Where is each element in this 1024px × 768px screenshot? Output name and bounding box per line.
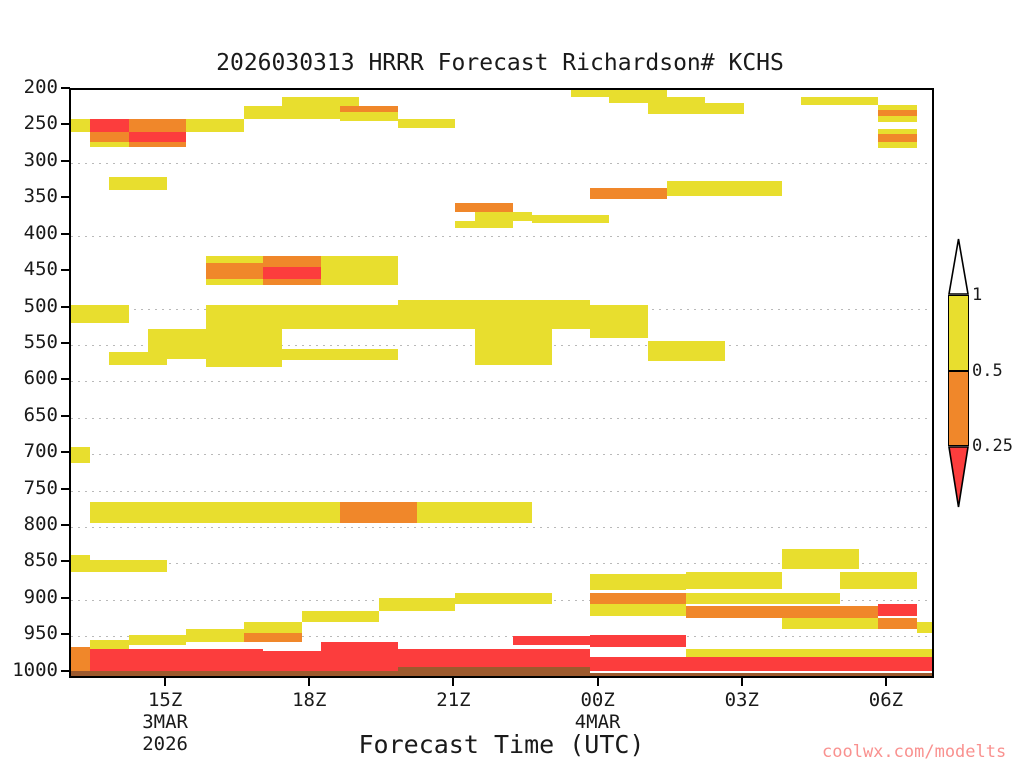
heatmap-cell (840, 572, 917, 589)
y-tick-label: 650 (24, 406, 58, 425)
heatmap-cell (206, 338, 283, 367)
heatmap-cell (590, 188, 667, 199)
y-tick-mark (61, 87, 70, 89)
y-tick-mark (61, 233, 70, 235)
heatmap-cell (129, 635, 187, 645)
heatmap-cell (71, 657, 90, 672)
y-tick-mark (61, 560, 70, 562)
heatmap-cell (206, 305, 283, 338)
y-tick-mark (61, 196, 70, 198)
x-tick-mark (597, 678, 599, 686)
colorbar-tick-label: 0.25 (972, 436, 1013, 456)
ground-band (398, 667, 590, 678)
x-tick-mark (164, 678, 166, 686)
x-tick-label: 21Z (393, 690, 513, 712)
heatmap-cell (90, 142, 128, 146)
heatmap-cell (263, 256, 321, 267)
heatmap-canvas (71, 90, 932, 676)
heatmap-cell (917, 622, 934, 633)
heatmap-cell (878, 116, 916, 122)
y-tick-label: 400 (24, 224, 58, 243)
y-tick-mark (61, 524, 70, 526)
heatmap-cell (206, 256, 264, 263)
heatmap-cell (686, 572, 782, 589)
y-tick-mark (61, 451, 70, 453)
y-tick-mark (61, 306, 70, 308)
heatmap-cell (590, 593, 686, 604)
y-tick-mark (61, 269, 70, 271)
heatmap-cell (206, 279, 264, 285)
ground-band (590, 673, 934, 678)
y-tick-label: 250 (24, 114, 58, 133)
heatmap-cell (590, 657, 934, 672)
x-tick-mark (452, 678, 454, 686)
y-tick-label: 500 (24, 297, 58, 316)
heatmap-cell (282, 349, 397, 360)
heatmap-cell (263, 645, 321, 651)
y-tick-label: 600 (24, 369, 58, 388)
y-tick-label: 800 (24, 515, 58, 534)
heatmap-cell (263, 279, 321, 285)
heatmap-cell (686, 649, 934, 656)
heatmap-cell (455, 203, 513, 212)
y-tick-label: 450 (24, 260, 58, 279)
heatmap-cell (801, 97, 878, 104)
gridline (71, 527, 932, 528)
heatmap-cell (379, 598, 456, 610)
y-tick-mark (61, 415, 70, 417)
heatmap-cell (109, 352, 167, 365)
heatmap-cell (667, 181, 782, 196)
heatmap-cell (475, 329, 552, 365)
y-tick-label: 350 (24, 187, 58, 206)
heatmap-cell (71, 447, 90, 463)
heatmap-cell (282, 97, 359, 106)
y-tick-label: 300 (24, 151, 58, 170)
chart-root: 2026030313 HRRR Forecast Richardson# KCH… (0, 0, 1024, 768)
heatmap-cell (590, 635, 686, 647)
y-tick-label: 1000 (12, 661, 58, 680)
heatmap-cell (821, 606, 879, 618)
heatmap-cell (782, 593, 840, 604)
plot-area (69, 88, 934, 678)
colorbar-tick-label: 0.5 (972, 361, 1003, 381)
heatmap-cell (878, 618, 916, 629)
heatmap-cell (398, 300, 590, 329)
heatmap-cell (648, 341, 725, 361)
heatmap-cell (109, 177, 167, 189)
heatmap-cell (302, 611, 379, 622)
x-tick-label: 03Z (682, 690, 802, 712)
heatmap-cell (590, 574, 686, 590)
heatmap-cell (532, 215, 609, 222)
x-tick-mark (885, 678, 887, 686)
y-tick-mark (61, 342, 70, 344)
y-tick-mark (61, 633, 70, 635)
heatmap-cell (782, 549, 859, 569)
y-tick-mark (61, 670, 70, 672)
colorbar-over-triangle (948, 237, 969, 295)
gridline (71, 381, 932, 382)
heatmap-cell (90, 640, 128, 649)
y-tick-mark (61, 488, 70, 490)
y-tick-label: 850 (24, 551, 58, 570)
heatmap-cell (71, 555, 90, 572)
heatmap-cell (263, 267, 321, 279)
y-tick-label: 950 (24, 624, 58, 643)
heatmap-cell (878, 142, 916, 148)
y-tick-mark (61, 378, 70, 380)
gridline (71, 163, 932, 164)
y-tick-label: 900 (24, 588, 58, 607)
heatmap-cell (71, 305, 129, 323)
y-tick-label: 200 (24, 78, 58, 97)
heatmap-cell (455, 593, 551, 604)
page-title: 2026030313 HRRR Forecast Richardson# KCH… (0, 50, 1000, 76)
heatmap-cell (340, 502, 417, 524)
heatmap-cell (571, 90, 667, 97)
heatmap-cell (513, 636, 590, 645)
gridline (71, 418, 932, 419)
colorbar-under-triangle (948, 446, 969, 508)
heatmap-cell (282, 305, 397, 329)
heatmap-cell (129, 142, 187, 146)
colorbar-segment-yellow (948, 295, 969, 371)
heatmap-cell (321, 256, 398, 285)
heatmap-cell (90, 132, 128, 142)
y-tick-mark (61, 597, 70, 599)
watermark: coolwx.com/modelts (822, 742, 1006, 762)
heatmap-cell (417, 502, 532, 524)
heatmap-cell (129, 119, 187, 132)
heatmap-cell (244, 106, 340, 119)
heatmap-cell (340, 112, 398, 121)
x-tick-label: 18Z (249, 690, 369, 712)
heatmap-cell (90, 119, 128, 132)
heatmap-cell (590, 305, 648, 338)
ground-band (71, 671, 398, 678)
y-tick-mark (61, 160, 70, 162)
heatmap-cell (206, 263, 264, 280)
heatmap-cell (686, 593, 782, 604)
y-axis: 2002503003504004505005506006507007508008… (0, 0, 58, 768)
heatmap-cell (71, 647, 90, 656)
heatmap-cell (878, 134, 916, 143)
heatmap-cell (129, 132, 187, 142)
gridline (71, 491, 932, 492)
heatmap-cell (475, 212, 533, 221)
heatmap-cell (186, 629, 244, 642)
y-tick-label: 550 (24, 333, 58, 352)
heatmap-cell (244, 622, 302, 633)
heatmap-cell (71, 119, 90, 132)
x-axis-title: Forecast Time (UTC) (69, 730, 934, 759)
colorbar-segment-orange (948, 371, 969, 447)
gridline (71, 454, 932, 455)
heatmap-cell (513, 645, 590, 649)
x-tick-mark (741, 678, 743, 686)
y-tick-mark (61, 123, 70, 125)
heatmap-cell (244, 633, 302, 642)
colorbar-legend: 10.50.25 (948, 295, 969, 475)
heatmap-cell (686, 606, 821, 618)
heatmap-cell (648, 103, 744, 114)
x-tick-label: 00Z4MAR (538, 690, 658, 734)
y-tick-label: 750 (24, 479, 58, 498)
heatmap-cell (590, 604, 686, 616)
y-tick-label: 700 (24, 442, 58, 461)
heatmap-cell (186, 119, 244, 132)
heatmap-cell (321, 642, 398, 651)
heatmap-cell (878, 604, 916, 616)
heatmap-cell (398, 119, 456, 128)
x-tick-mark (308, 678, 310, 686)
heatmap-cell (455, 221, 513, 228)
gridline (71, 236, 932, 237)
heatmap-cell (90, 502, 340, 524)
colorbar-tick-label: 1 (972, 285, 982, 305)
heatmap-cell (782, 618, 878, 629)
x-tick-label: 06Z (826, 690, 946, 712)
heatmap-cell (90, 560, 167, 572)
